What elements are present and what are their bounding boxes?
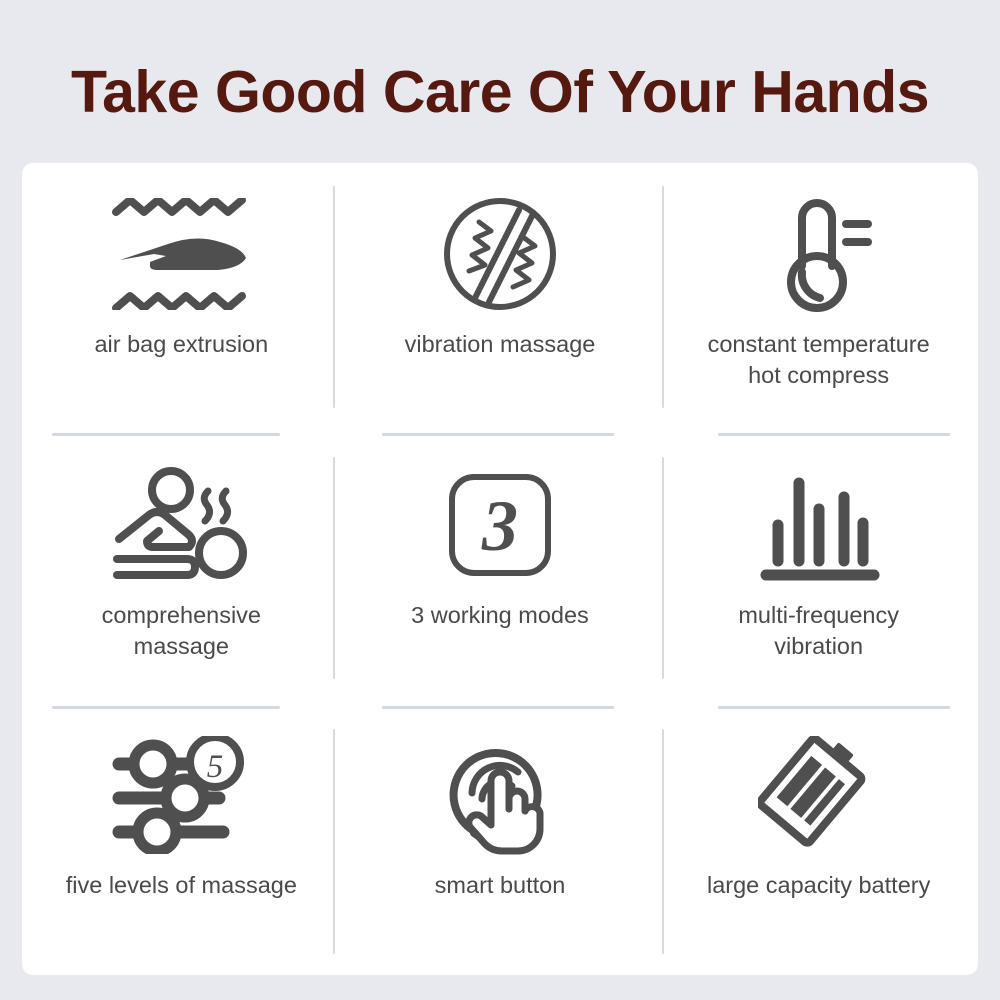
feature-label: multi-frequency vibration [728,600,909,662]
feature-label-line: vibration [738,631,899,662]
feature-label: five levels of massage [56,870,307,901]
sliders-with-5-badge-icon: 5 [111,720,251,870]
icon-number-5: 5 [207,749,224,785]
feature-label-line: multi-frequency [738,600,899,631]
infographic-page: Take Good Care Of Your Hands [0,0,1000,1000]
feature-card: air bag extrusion vibration massage [22,163,978,975]
feature-label-line: 3 working modes [411,600,589,631]
feature-grid: air bag extrusion vibration massage [22,163,978,975]
person-on-massage-table-icon [109,450,253,600]
feature-label-line: comprehensive [102,600,261,631]
page-title: Take Good Care Of Your Hands [0,58,1000,126]
feature-label: comprehensive massage [92,600,271,662]
tap-hand-icon [444,720,556,870]
hand-with-waves-icon [110,179,252,329]
feature-label-line: smart button [435,870,566,901]
feature-label-line: massage [102,631,261,662]
feature-item-multi-frequency-vibration: multi-frequency vibration [659,434,978,705]
number-3-in-rounded-square-icon: 3 [447,450,553,600]
circle-zigzag-vibration-icon [441,179,559,329]
feature-item-comprehensive-massage: comprehensive massage [22,434,341,705]
frequency-bars-icon [756,450,882,600]
feature-label-line: hot compress [708,360,930,391]
feature-label: constant temperature hot compress [698,329,940,391]
feature-label-line: constant temperature [708,329,930,360]
feature-label: air bag extrusion [84,329,278,360]
feature-label-line: air bag extrusion [94,329,268,360]
feature-label-line: large capacity battery [707,870,930,901]
feature-item-air-bag-extrusion: air bag extrusion [22,163,341,434]
feature-label-line: vibration massage [405,329,596,360]
feature-item-large-capacity-battery: large capacity battery [659,704,978,975]
feature-label: 3 working modes [401,600,599,631]
icon-number-3: 3 [481,486,518,566]
feature-label: smart button [425,870,576,901]
feature-item-three-working-modes: 3 3 working modes [341,434,660,705]
feature-label-line: five levels of massage [66,870,297,901]
feature-item-smart-button: smart button [341,704,660,975]
tilted-battery-icon [758,720,880,870]
feature-item-constant-temperature-hot-compress: constant temperature hot compress [659,163,978,434]
thermometer-icon [764,179,874,329]
feature-item-five-levels-of-massage: 5 five levels of massage [22,704,341,975]
feature-item-vibration-massage: vibration massage [341,163,660,434]
feature-label: vibration massage [395,329,606,360]
feature-label: large capacity battery [697,870,940,901]
